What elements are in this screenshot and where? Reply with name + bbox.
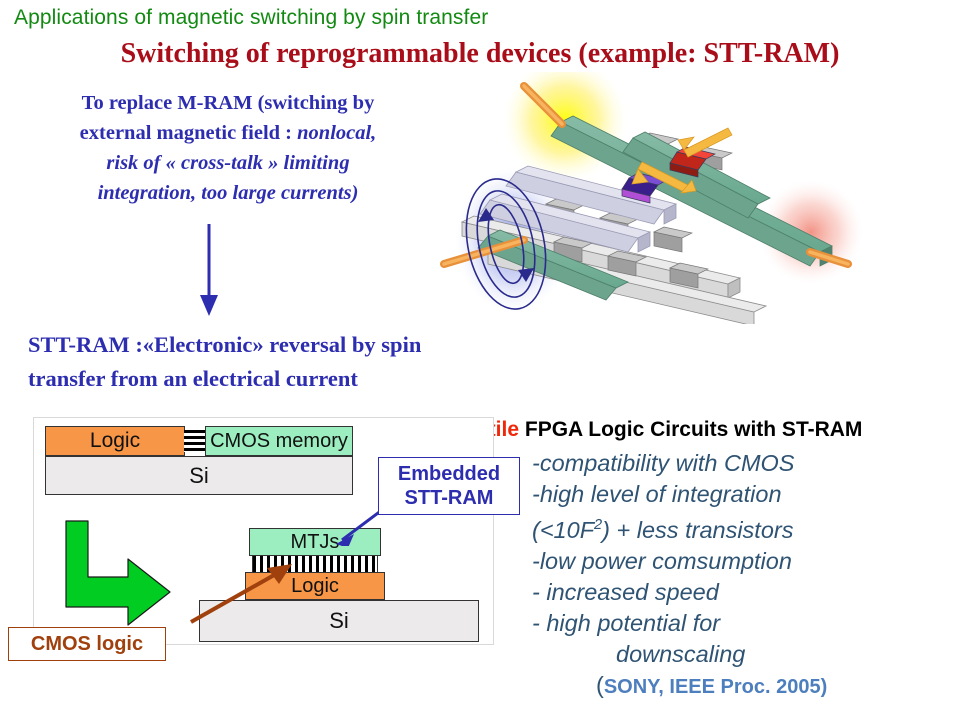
sttram-reversal-line-1: STT-RAM :«Electronic» reversal by spin [28, 328, 498, 362]
advantage-source-paren: ( [596, 672, 604, 698]
block-cmos-memory: CMOS memory [205, 426, 353, 456]
replace-mram-line-1: To replace M-RAM (switching by [18, 88, 438, 118]
advantage-item-2b: (<10F2) + less transistors [532, 510, 952, 546]
fpga-heading-rest: FPGA Logic Circuits with ST-RAM [519, 418, 862, 441]
down-arrow-icon [190, 222, 230, 318]
advantage-item-5b: downscaling [532, 639, 952, 670]
advantage-item-2: -high level of integration [532, 479, 952, 510]
block-top-logic: Logic [45, 426, 185, 456]
sttram-reversal-paragraph: STT-RAM :«Electronic» reversal by spin t… [28, 328, 498, 396]
advantage-source: (SONY, IEEE Proc. 2005) [532, 670, 952, 703]
block-top-substrate: Si [45, 456, 353, 495]
replace-mram-line-3: risk of « cross-talk » limiting [18, 148, 438, 178]
interconnect-lines-icon [184, 430, 207, 452]
advantage-item-2b-exponent: 2 [594, 517, 602, 533]
green-bent-arrow-icon [58, 515, 188, 640]
cmos-logic-callout: CMOS logic [8, 627, 166, 661]
advantage-source-text: SONY, IEEE Proc. 2005) [604, 676, 827, 698]
advantage-item-4: - increased speed [532, 577, 952, 608]
advantage-item-1: -compatibility with CMOS [532, 448, 952, 479]
replace-mram-line-2-plain: external magnetic field : [80, 122, 297, 144]
sttram-reversal-line-2: transfer from an electrical current [28, 362, 498, 396]
mram-crossbar-3d-illustration [428, 72, 960, 324]
embedded-callout-line-1: Embedded [398, 462, 500, 486]
slide-breadcrumb: Applications of magnetic switching by sp… [14, 6, 488, 30]
advantage-item-2b-post: ) + less transistors [602, 517, 793, 543]
advantages-list: -compatibility with CMOS -high level of … [532, 448, 952, 703]
advantage-item-2b-pre: (<10F [532, 517, 594, 543]
advantage-item-3: -low power comsumption [532, 546, 952, 577]
embedded-callout-line-2: STT-RAM [405, 486, 494, 510]
embedded-sttram-callout: Embedded STT-RAM [378, 457, 520, 515]
page-title: Switching of reprogrammable devices (exa… [0, 38, 960, 70]
replace-mram-paragraph: To replace M-RAM (switching by external … [18, 88, 438, 208]
replace-mram-line-2-italic: nonlocal, [297, 122, 376, 144]
replace-mram-line-4: integration, too large currents) [18, 178, 438, 208]
cmos-logic-pointer-arrow-icon [185, 556, 300, 628]
advantage-item-5: - high potential for [532, 608, 952, 639]
slide-canvas: Applications of magnetic switching by sp… [0, 0, 960, 720]
replace-mram-line-2: external magnetic field : nonlocal, [18, 118, 438, 148]
